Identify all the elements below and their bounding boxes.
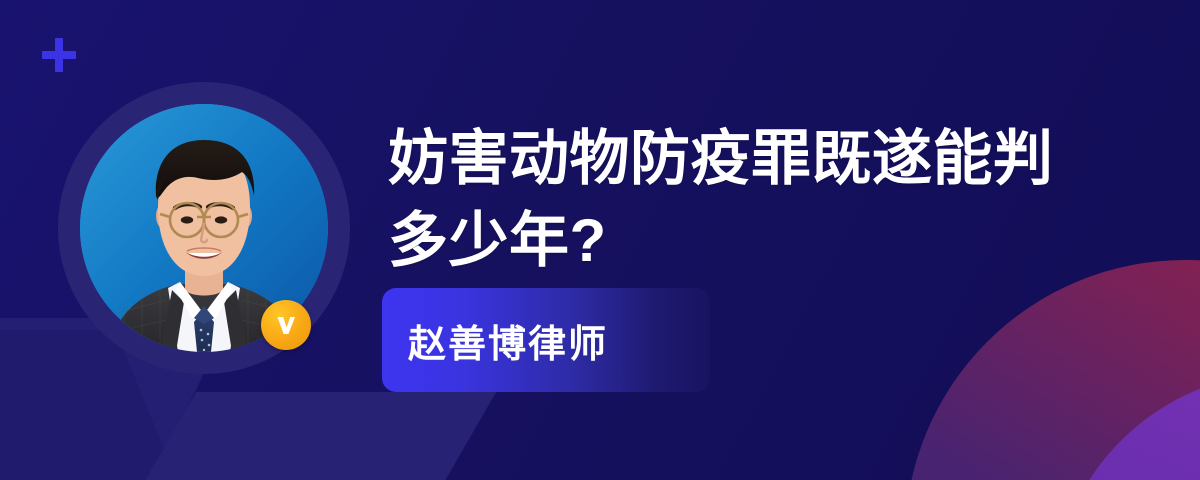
page-title: 妨害动物防疫罪既遂能判 多少年? [388, 118, 1148, 282]
lawyer-name-label: 赵善博律师 [408, 313, 608, 368]
avatar[interactable] [58, 82, 350, 374]
plus-icon [42, 38, 76, 72]
headline-block: 妨害动物防疫罪既遂能判 多少年? [388, 118, 1148, 282]
verified-v-icon [261, 300, 311, 350]
lawyer-name-badge[interactable]: 赵善博律师 [382, 288, 710, 392]
legal-qa-banner: 妨害动物防疫罪既遂能判 多少年? 赵善博律师 [0, 0, 1200, 480]
